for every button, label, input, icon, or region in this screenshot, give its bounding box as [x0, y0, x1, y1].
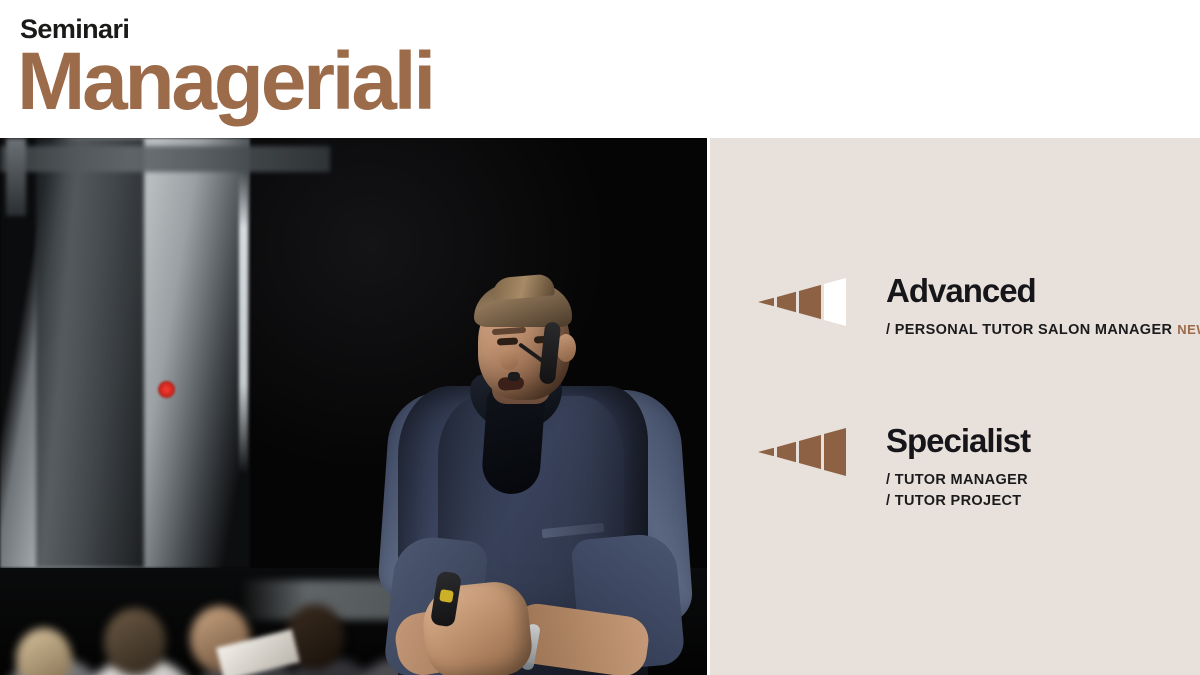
photo-speaker-headset-mic [508, 372, 520, 381]
course-list-specialist: / TUTOR MANAGER / TUTOR PROJECT [886, 470, 1186, 511]
photo-ceiling-beam [0, 146, 330, 172]
slide-root: Seminari Manageriali [0, 0, 1200, 675]
photo-speaker-clicker-light [439, 589, 454, 603]
status-badge-new: NEW [1177, 322, 1200, 337]
course-list-advanced: / PERSONAL TUTOR SALON MANAGERNEW [886, 320, 1186, 341]
photo-beam-light [6, 138, 26, 216]
speaker-photo [0, 138, 707, 675]
course-item[interactable]: / PERSONAL TUTOR SALON MANAGERNEW [886, 320, 1186, 341]
photo-speaker-nose [500, 348, 518, 370]
level-title-specialist: Specialist [886, 424, 1186, 457]
page-title: Manageriali [17, 40, 433, 124]
photo-speaker-eye-left [497, 337, 518, 345]
photo-wall-column [36, 138, 144, 568]
course-label: / TUTOR MANAGER [886, 472, 1028, 488]
course-item[interactable]: / TUTOR MANAGER [886, 470, 1186, 491]
level-text-specialist: Specialist / TUTOR MANAGER / TUTOR PROJE… [886, 424, 1186, 511]
levels-panel: Advanced / PERSONAL TUTOR SALON MANAGERN… [710, 138, 1200, 675]
arrow-left-4-segments-icon [758, 428, 848, 476]
course-label: / PERSONAL TUTOR SALON MANAGER [886, 322, 1172, 338]
photo-red-indicator-light [158, 381, 175, 398]
course-item[interactable]: / TUTOR PROJECT [886, 491, 1186, 512]
photo-light-strip [239, 174, 248, 474]
photo-speaker-tie [480, 388, 545, 496]
slide-header: Seminari Manageriali [0, 0, 1200, 138]
level-text-advanced: Advanced / PERSONAL TUTOR SALON MANAGERN… [886, 274, 1186, 341]
level-title-advanced: Advanced [886, 274, 1186, 307]
course-label: / TUTOR PROJECT [886, 493, 1022, 509]
arrow-left-4-segments-icon [758, 278, 848, 326]
photo-audience-head [104, 608, 166, 675]
